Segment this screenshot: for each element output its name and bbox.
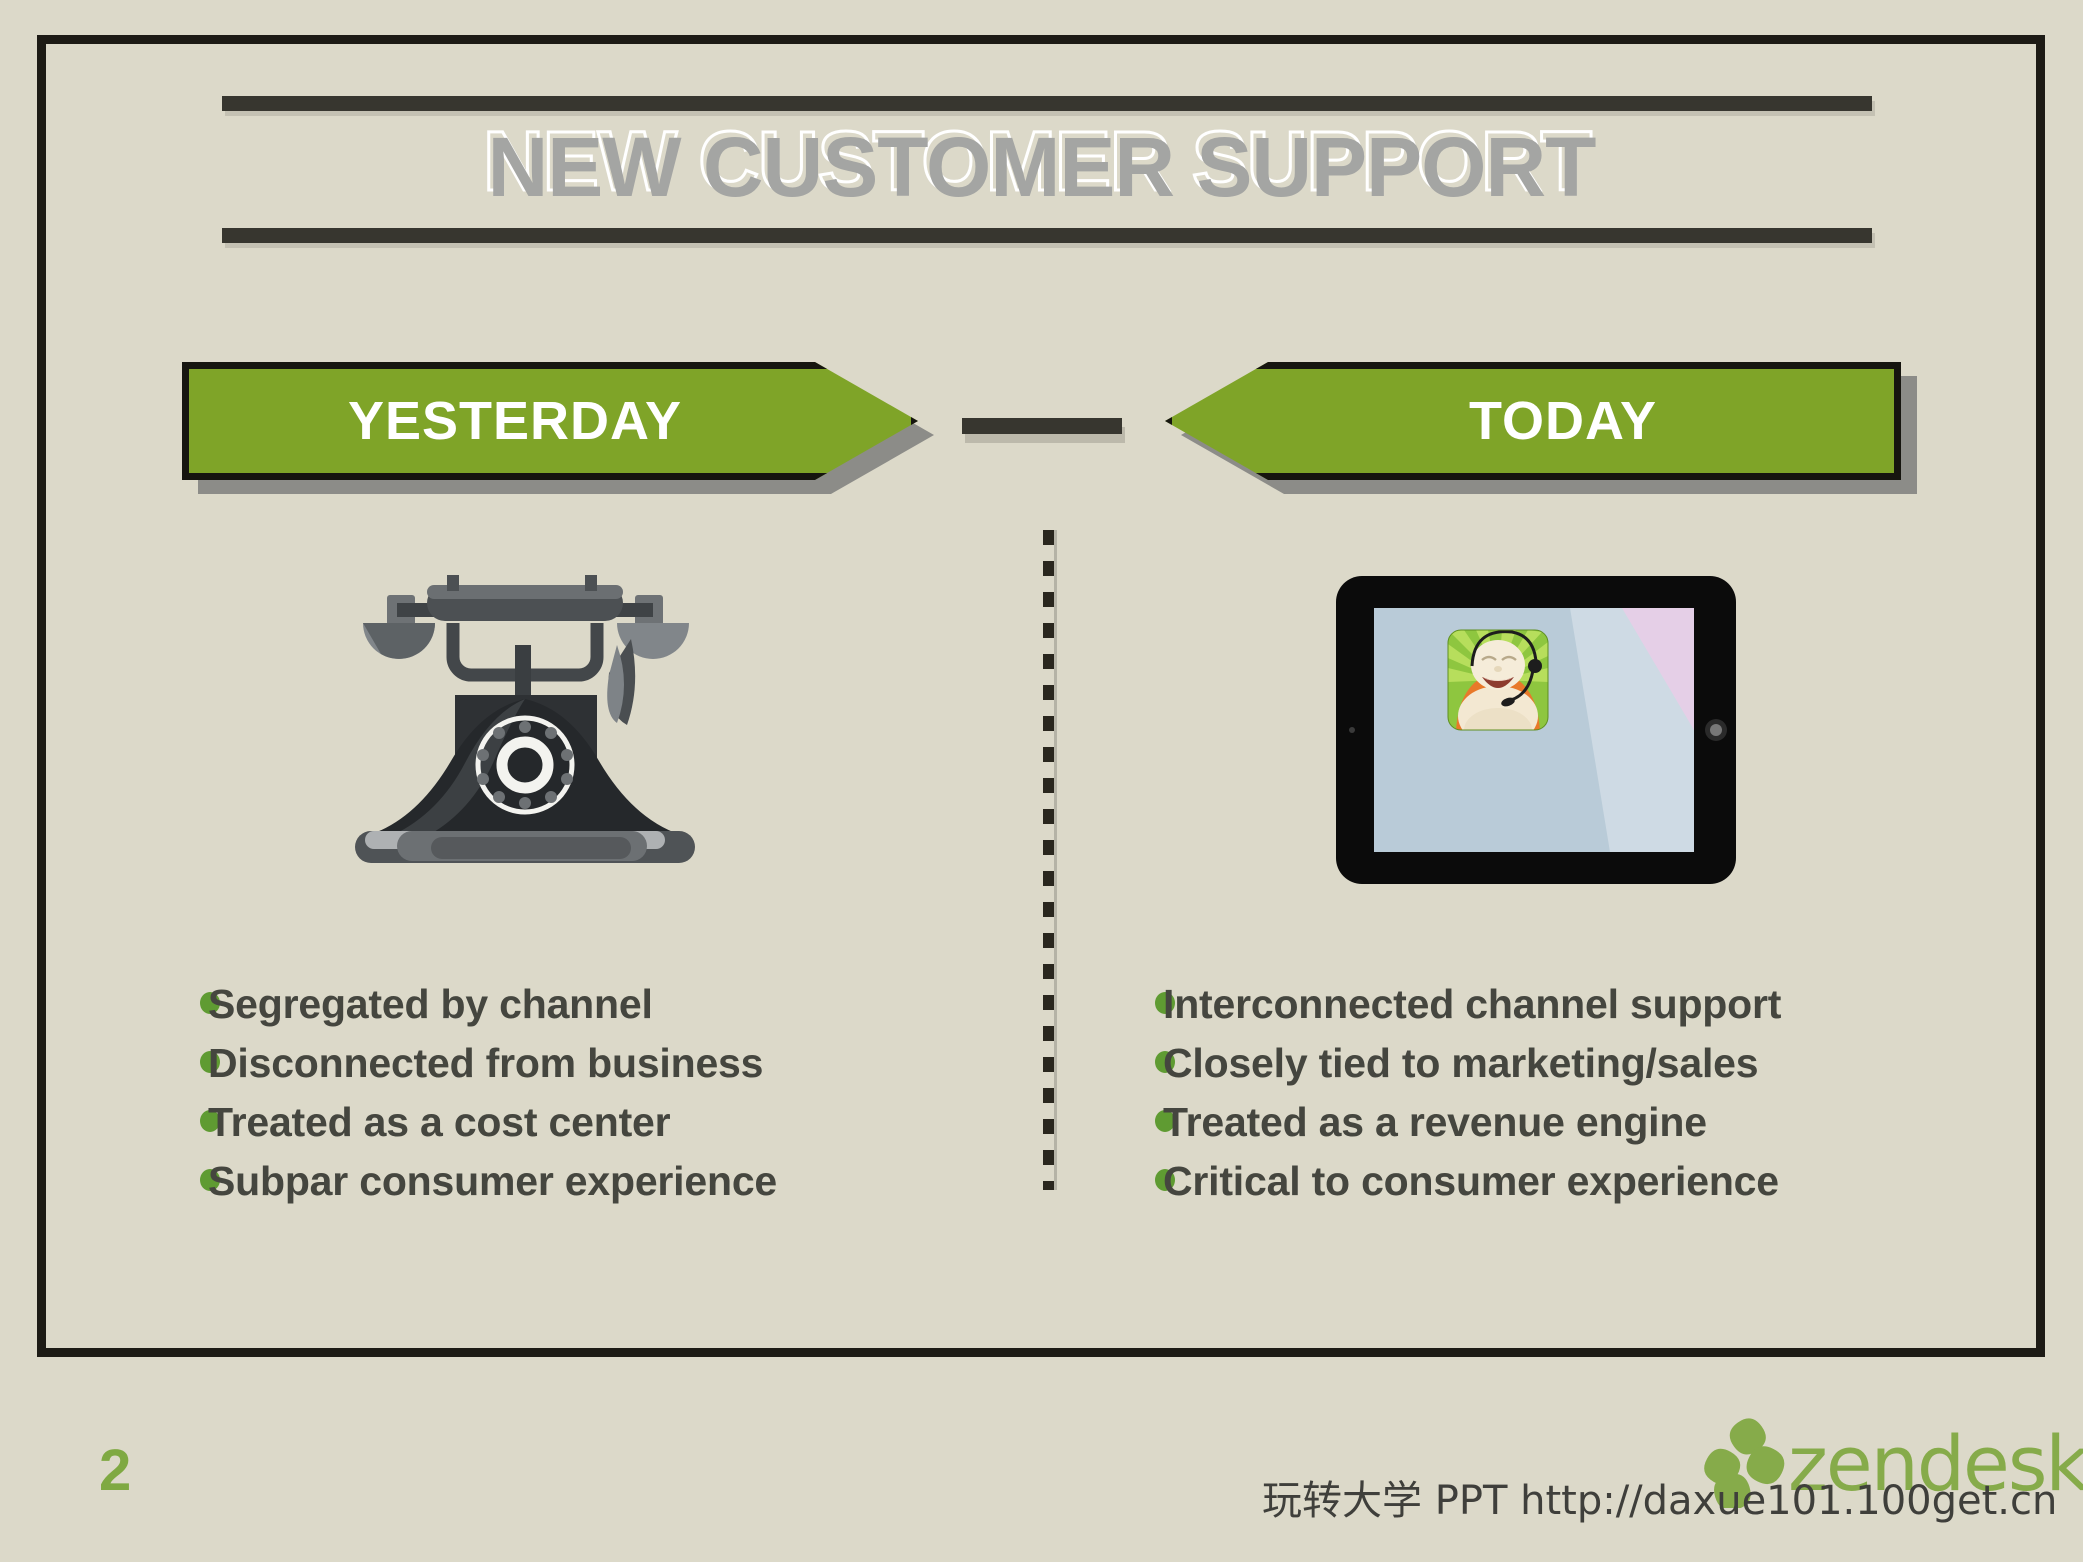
list-item: Treated as a cost center xyxy=(200,1093,960,1152)
list-item: Subpar consumer experience xyxy=(200,1152,960,1211)
title-rule-bottom xyxy=(222,228,1872,243)
list-item-label: Treated as a revenue engine xyxy=(1163,1099,1707,1146)
list-item: Treated as a revenue engine xyxy=(1155,1093,1955,1152)
list-item-label: Closely tied to marketing/sales xyxy=(1163,1040,1758,1087)
page-number: 2 xyxy=(99,1437,131,1504)
bullet-list-yesterday: Segregated by channel Disconnected from … xyxy=(200,975,960,1211)
column-divider xyxy=(1043,530,1054,1190)
tablet-device-icon xyxy=(1330,570,1750,890)
list-item-label: Subpar consumer experience xyxy=(208,1158,777,1205)
list-item-label: Disconnected from business xyxy=(208,1040,763,1087)
title-rule-top xyxy=(222,96,1872,111)
list-item-label: Critical to consumer experience xyxy=(1163,1158,1779,1205)
banner-today: TODAY xyxy=(1165,362,1901,480)
slide: NEW CUSTOMER SUPPORT NEW CUSTOMER SUPPOR… xyxy=(0,0,2083,1562)
rotary-telephone-icon xyxy=(335,565,715,875)
banner-today-label: TODAY xyxy=(1469,390,1657,452)
banner-yesterday-label: YESTERDAY xyxy=(348,390,682,452)
list-item: Segregated by channel xyxy=(200,975,960,1034)
bullet-list-today: Interconnected channel support Closely t… xyxy=(1155,975,1955,1211)
list-item: Critical to consumer experience xyxy=(1155,1152,1955,1211)
list-item-label: Treated as a cost center xyxy=(208,1099,670,1146)
list-item-label: Interconnected channel support xyxy=(1163,981,1781,1028)
list-item: Disconnected from business xyxy=(200,1034,960,1093)
banner-yesterday: YESTERDAY xyxy=(182,362,918,480)
banner-connector-dash xyxy=(962,418,1122,434)
list-item: Closely tied to marketing/sales xyxy=(1155,1034,1955,1093)
list-item: Interconnected channel support xyxy=(1155,975,1955,1034)
footer-attribution: 玩转大学 PPT http://daxue101.100get.cn xyxy=(1262,1468,2057,1526)
list-item-label: Segregated by channel xyxy=(208,981,653,1028)
